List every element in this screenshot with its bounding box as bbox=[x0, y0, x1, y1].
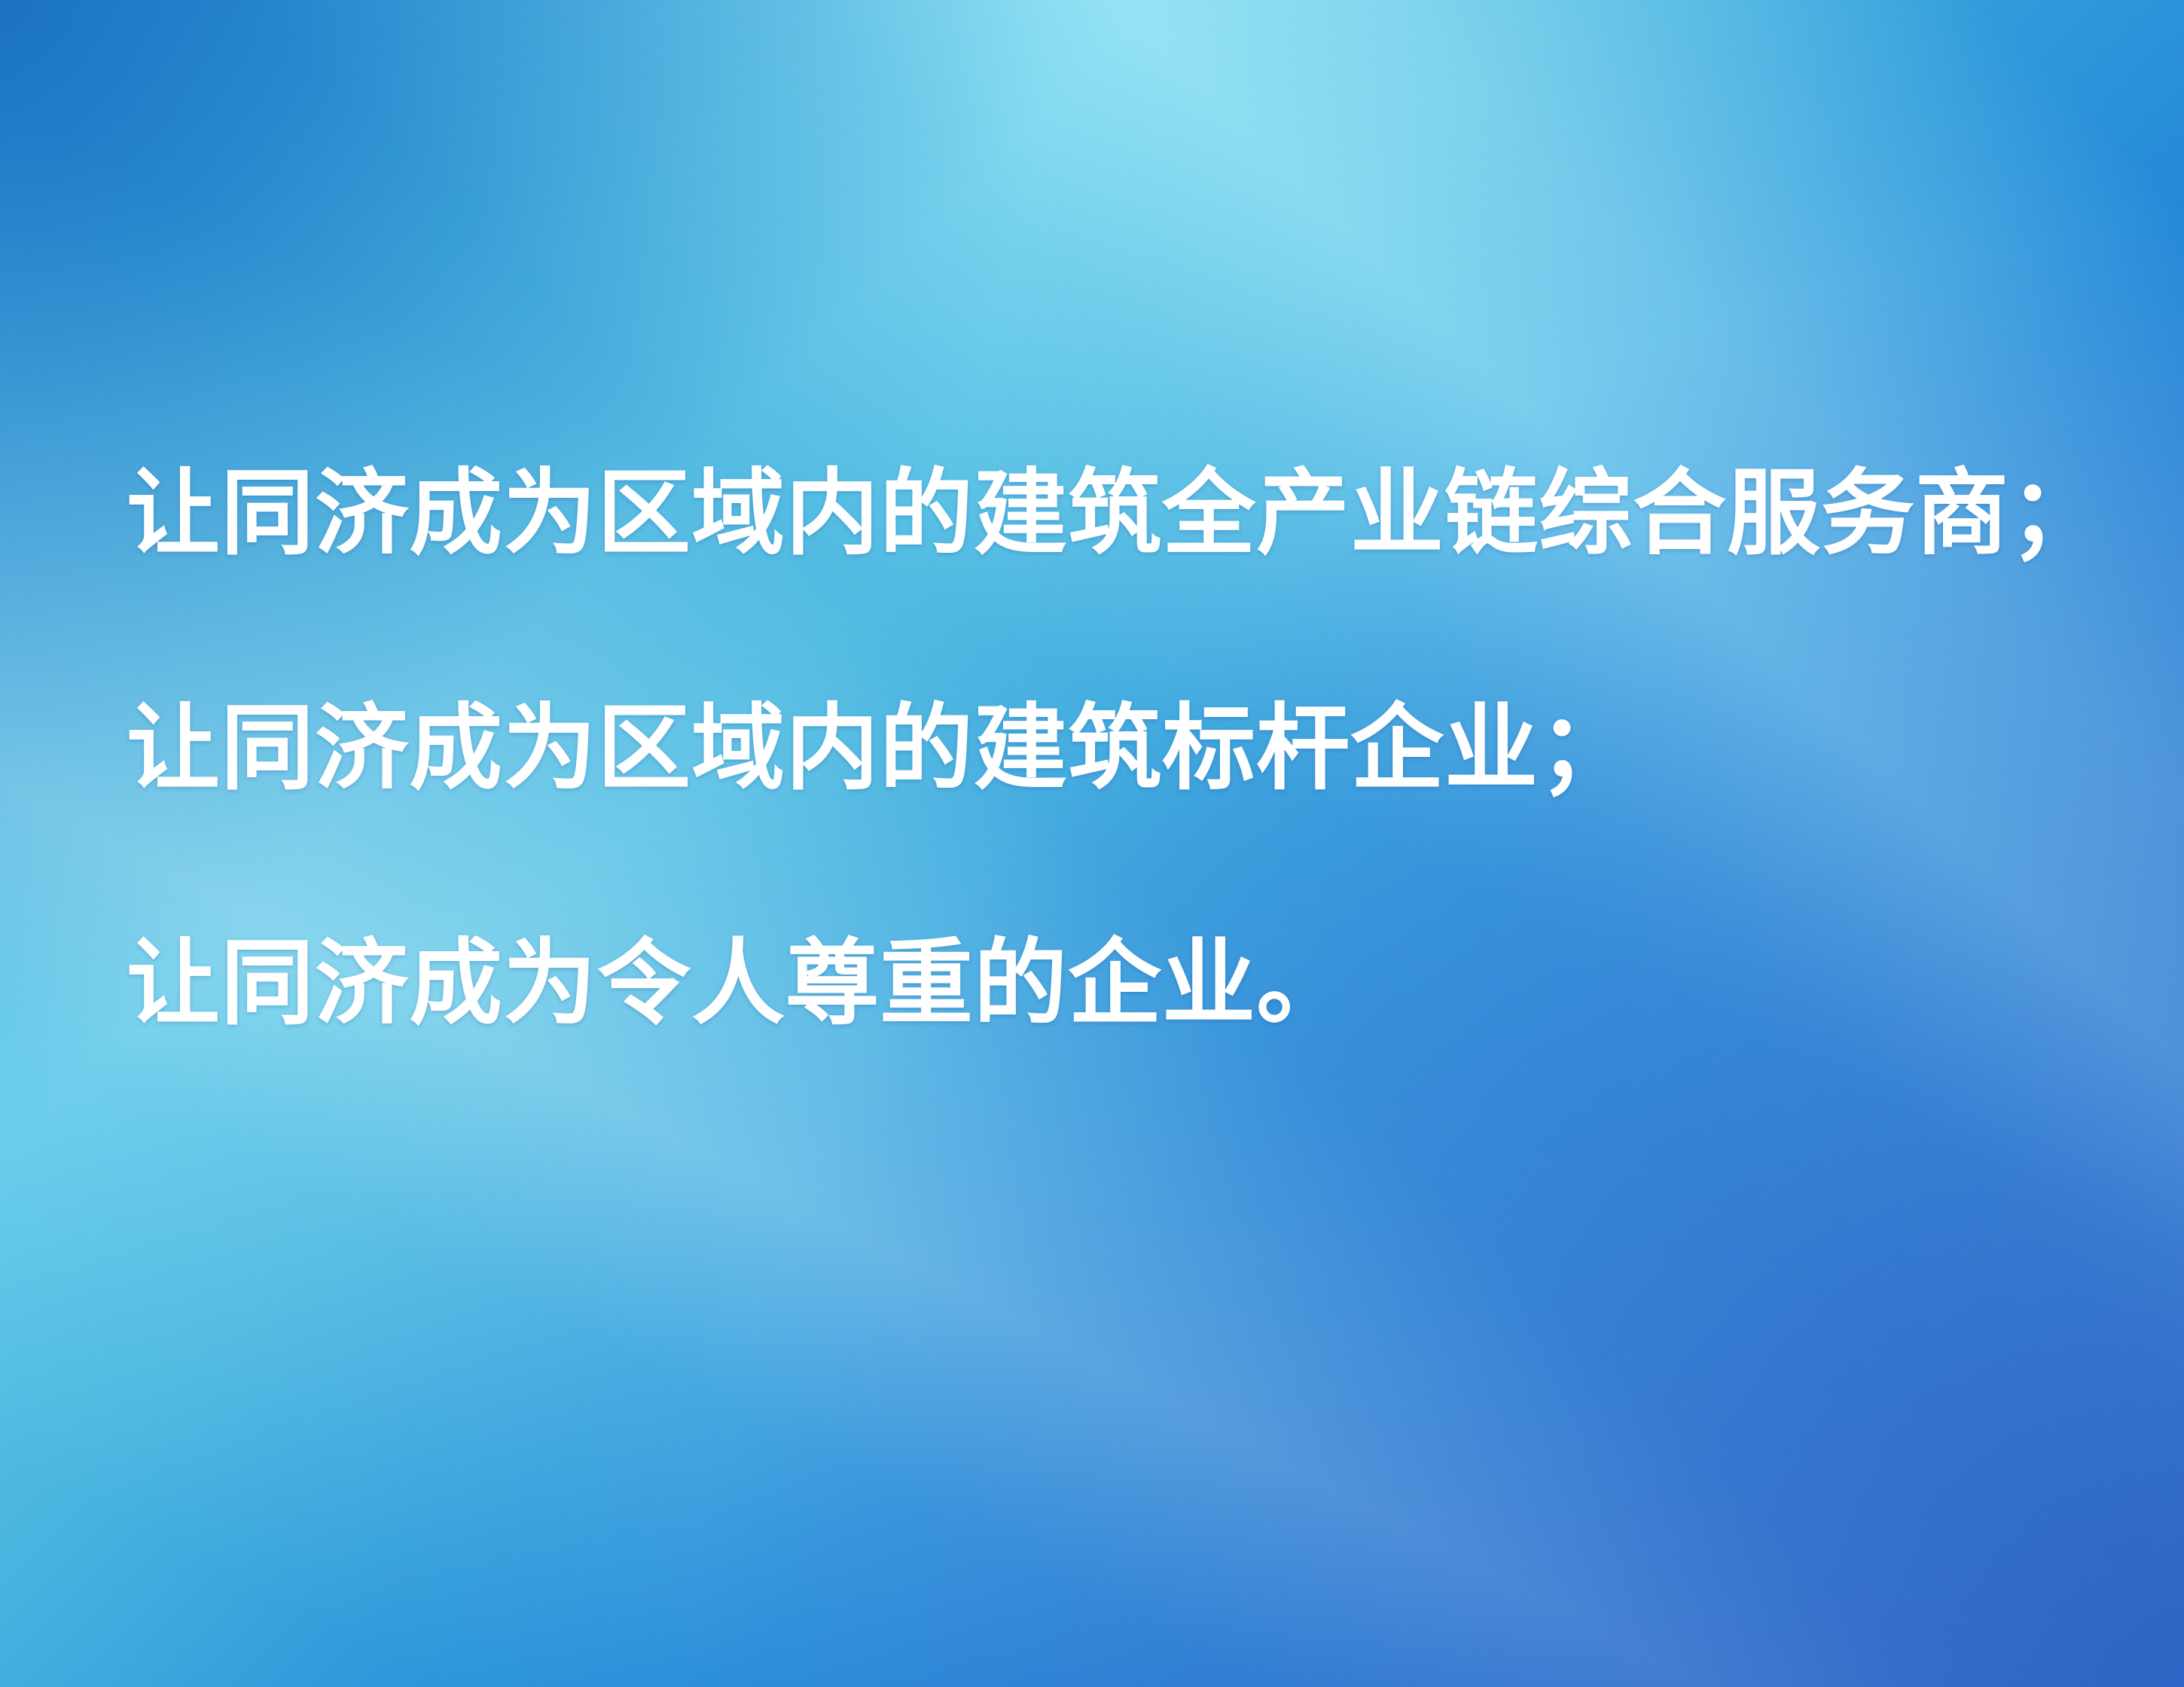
presentation-slide: 让同济成为区域内的建筑全产业链综合服务商； 让同济成为区域内的建筑标杆企业； 让… bbox=[0, 0, 2184, 1687]
vision-line-1: 让同济成为区域内的建筑全产业链综合服务商； bbox=[127, 467, 2085, 560]
vision-line-3: 让同济成为令人尊重的企业。 bbox=[127, 937, 2085, 1030]
vision-line-2: 让同济成为区域内的建筑标杆企业； bbox=[127, 702, 2085, 795]
vision-statement-block: 让同济成为区域内的建筑全产业链综合服务商； 让同济成为区域内的建筑标杆企业； 让… bbox=[127, 467, 2085, 1030]
